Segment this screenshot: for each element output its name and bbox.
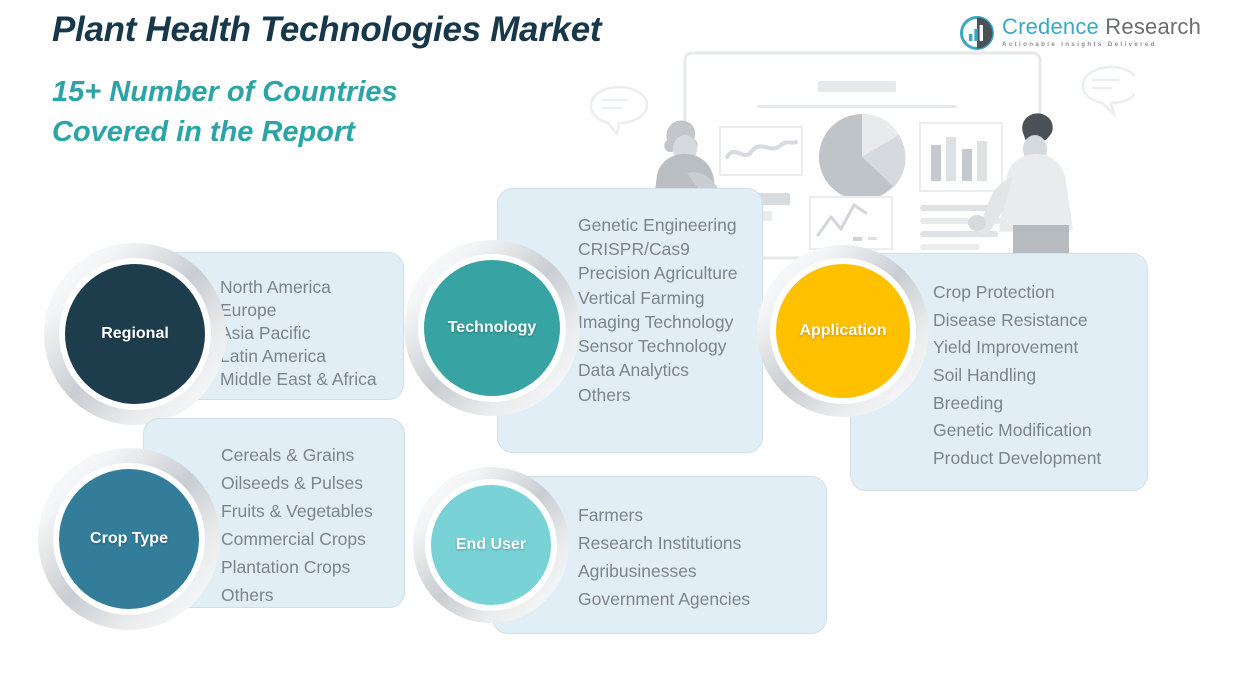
page-subtitle: 15+ Number of Countries Covered in the R…: [52, 72, 398, 152]
bubble-label: Application: [799, 322, 886, 340]
list-item: Yield Improvement: [933, 334, 1223, 362]
bubble-label: Technology: [448, 319, 537, 337]
list-item: Agribusinesses: [578, 557, 908, 585]
bubble-circle-regional[interactable]: Regional: [65, 264, 205, 404]
bubble-circle-technology[interactable]: Technology: [424, 260, 560, 396]
list-item: Product Development: [933, 445, 1223, 473]
list-item: Genetic Engineering: [578, 213, 838, 237]
list-item: Government Agencies: [578, 585, 908, 613]
logo-word-credence: Credence: [1002, 14, 1099, 39]
bubble-circle-crop-type[interactable]: Crop Type: [59, 469, 199, 609]
bubble-regional[interactable]: Regional: [44, 243, 226, 425]
bar-chart-circle-icon: [960, 16, 994, 50]
list-item: Crop Protection: [933, 279, 1223, 307]
bubble-crop-type[interactable]: Crop Type: [38, 448, 220, 630]
logo-word-research: Research: [1099, 14, 1201, 39]
infographic-canvas: Plant Health Technologies Market 15+ Num…: [0, 0, 1260, 678]
bubble-label: Crop Type: [90, 530, 168, 548]
list-end-user: Farmers Research Institutions Agribusine…: [578, 501, 908, 613]
bubble-circle-end-user[interactable]: End User: [431, 485, 551, 605]
subtitle-line-2: Covered in the Report: [52, 112, 398, 152]
bubble-label: Regional: [101, 325, 169, 343]
list-application: Crop Protection Disease Resistance Yield…: [933, 279, 1223, 472]
list-item: Breeding: [933, 390, 1223, 418]
subtitle-line-1: 15+ Number of Countries: [52, 72, 398, 112]
bubble-label: End User: [456, 536, 526, 554]
bubble-application[interactable]: Application: [757, 245, 929, 417]
list-item: Farmers: [578, 501, 908, 529]
brand-logo[interactable]: Credence Research Actionable Insights De…: [960, 14, 1155, 54]
page-title: Plant Health Technologies Market: [52, 10, 601, 50]
list-item: Genetic Modification: [933, 417, 1223, 445]
bubble-circle-application[interactable]: Application: [776, 264, 910, 398]
logo-wordmark: Credence Research Actionable Insights De…: [1002, 14, 1157, 48]
list-item: Cereals & Grains: [221, 441, 481, 469]
list-item: Soil Handling: [933, 362, 1223, 390]
bubble-end-user[interactable]: End User: [413, 467, 569, 623]
list-item: Research Institutions: [578, 529, 908, 557]
logo-tagline: Actionable Insights Delivered: [1002, 41, 1157, 48]
bubble-technology[interactable]: Technology: [404, 240, 580, 416]
list-item: Disease Resistance: [933, 307, 1223, 335]
